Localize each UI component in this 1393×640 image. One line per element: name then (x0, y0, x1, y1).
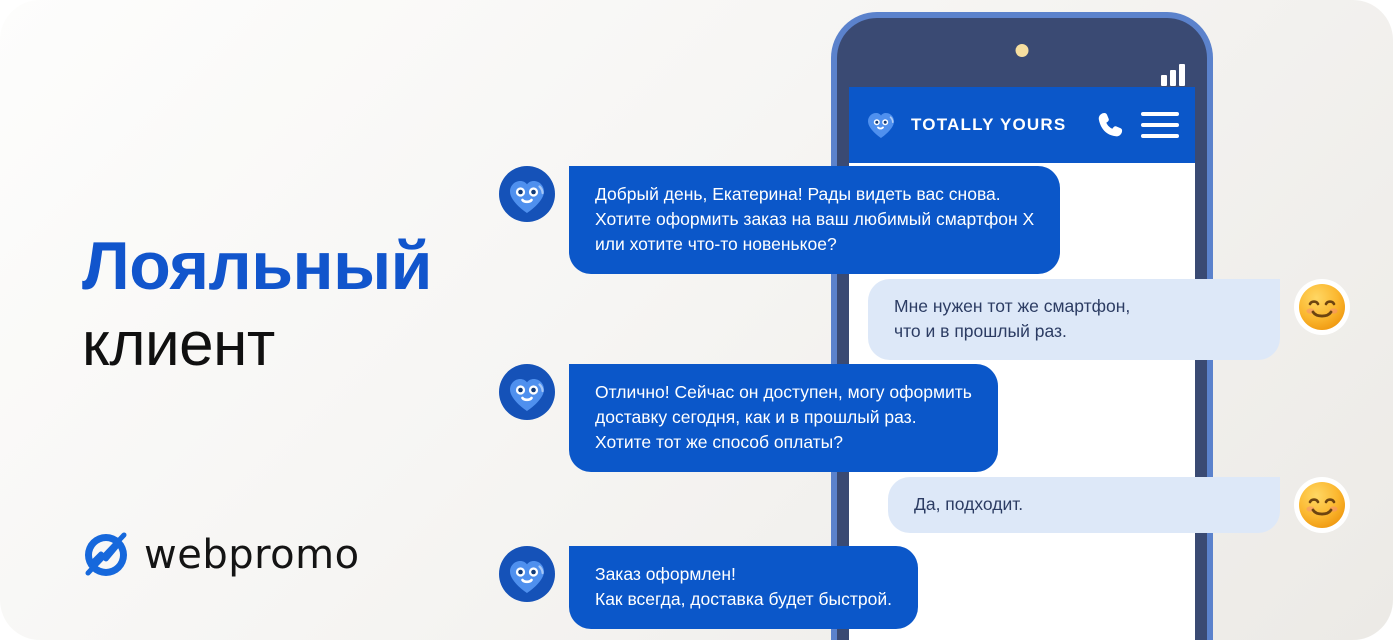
bot-heart-avatar-icon (499, 546, 555, 602)
chat-message-bot: Добрый день, Екатерина! Рады видеть вас … (499, 166, 1060, 274)
smiling-face-emoji-icon (1294, 279, 1350, 335)
chat-message-bot: Отлично! Сейчас он доступен, могу оформи… (499, 364, 998, 472)
message-line: Мне нужен тот же смартфон, (894, 294, 1254, 319)
phone-icon[interactable] (1095, 109, 1127, 141)
message-line: Да, подходит. (914, 492, 1254, 517)
page-title: Лояльный клиент (82, 232, 432, 376)
app-header: TOTALLY YOURS (849, 87, 1195, 163)
chat-message-user: Да, подходит. (888, 477, 1350, 533)
hamburger-menu-icon[interactable] (1141, 112, 1179, 138)
message-line: Добрый день, Екатерина! Рады видеть вас … (595, 182, 1034, 207)
chat-bubble: Добрый день, Екатерина! Рады видеть вас … (569, 166, 1060, 274)
message-line: Заказ оформлен! (595, 562, 892, 587)
message-line: или хотите что-то новенькое? (595, 232, 1034, 257)
heart-face-icon (865, 109, 897, 141)
message-line: Хотите тот же способ оплаты? (595, 430, 972, 455)
smiling-face-emoji-icon (1294, 477, 1350, 533)
chat-bubble: Да, подходит. (888, 477, 1280, 533)
webpromo-logo: webpromo (82, 531, 360, 579)
message-line: Хотите оформить заказ на ваш любимый сма… (595, 207, 1034, 232)
app-title: TOTALLY YOURS (911, 115, 1081, 135)
chat-bubble: Заказ оформлен! Как всегда, доставка буд… (569, 546, 918, 629)
webpromo-wordmark: webpromo (144, 532, 360, 578)
chat-message-user: Мне нужен тот же смартфон, что и в прошл… (868, 279, 1350, 360)
bot-heart-avatar-icon (499, 166, 555, 222)
signal-bars-icon (1161, 64, 1185, 86)
message-line: доставку сегодня, как и в прошлый раз. (595, 405, 972, 430)
camera-dot-icon (1016, 44, 1029, 57)
message-line: Как всегда, доставка будет быстрой. (595, 587, 892, 612)
message-line: что и в прошлый раз. (894, 319, 1254, 344)
chat-bubble: Отлично! Сейчас он доступен, могу оформи… (569, 364, 998, 472)
message-line: Отлично! Сейчас он доступен, могу оформи… (595, 380, 972, 405)
headline-line-1: Лояльный (82, 232, 432, 300)
bot-heart-avatar-icon (499, 364, 555, 420)
chat-message-bot: Заказ оформлен! Как всегда, доставка буд… (499, 546, 918, 629)
webpromo-logo-icon (82, 531, 130, 579)
chat-bubble: Мне нужен тот же смартфон, что и в прошл… (868, 279, 1280, 360)
promo-banner: Лояльный клиент webpromo (0, 0, 1393, 640)
headline-line-2: клиент (82, 314, 432, 376)
